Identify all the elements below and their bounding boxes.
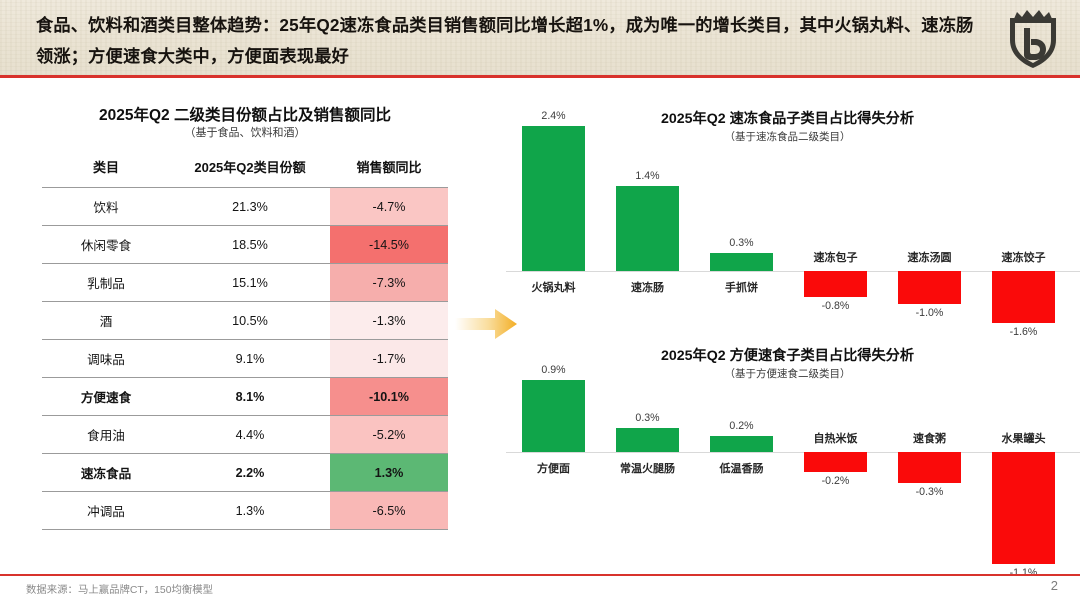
table-row: 调味品9.1%-1.7%: [42, 340, 448, 378]
cell-category: 方便速食: [42, 378, 170, 416]
cell-yoy: -4.7%: [330, 188, 448, 226]
cell-share: 15.1%: [170, 264, 330, 302]
table-row: 方便速食8.1%-10.1%: [42, 378, 448, 416]
chart-bar: [710, 436, 773, 452]
footer-divider: [0, 574, 1080, 576]
chart-bar: [804, 271, 867, 297]
slide-header: 食品、饮料和酒类目整体趋势：25年Q2速冻食品类目销售额同比增长超1%，成为唯一…: [0, 0, 1080, 78]
cell-share: 21.3%: [170, 188, 330, 226]
chart-category-label: 方便面: [508, 460, 600, 476]
cell-category: 食用油: [42, 416, 170, 454]
shield-crown-logo: [1004, 8, 1062, 70]
chart-bar: [522, 380, 585, 452]
page-title: 食品、饮料和酒类目整体趋势：25年Q2速冻食品类目销售额同比增长超1%，成为唯一…: [36, 10, 976, 72]
table-row: 酒10.5%-1.3%: [42, 302, 448, 340]
slide: 食品、饮料和酒类目整体趋势：25年Q2速冻食品类目销售额同比增长超1%，成为唯一…: [0, 0, 1080, 608]
page-number: 2: [1051, 578, 1058, 593]
chart-category-label: 自热米饭: [790, 430, 882, 446]
cell-yoy: -1.3%: [330, 302, 448, 340]
chart-bar: [898, 452, 961, 483]
chart-bar: [710, 253, 773, 271]
cell-yoy: -14.5%: [330, 226, 448, 264]
chart-bar: [616, 428, 679, 452]
cell-yoy: -1.7%: [330, 340, 448, 378]
cell-category: 调味品: [42, 340, 170, 378]
chart-plot-area: 2.4%火锅丸料1.4%速冻肠0.3%手抓饼-0.8%速冻包子-1.0%速冻汤圆…: [500, 108, 1075, 323]
chart-category-label: 水果罐头: [978, 430, 1070, 446]
chart-bar: [992, 452, 1055, 564]
chart-category-label: 手抓饼: [696, 279, 788, 295]
cell-yoy: 1.3%: [330, 454, 448, 492]
table-header-row: 类目 2025年Q2类目份额 销售额同比: [42, 152, 448, 188]
chart-bar: [522, 126, 585, 271]
chart-value-label: 2.4%: [514, 110, 594, 122]
chart-value-label: 0.9%: [514, 364, 594, 376]
cell-share: 4.4%: [170, 416, 330, 454]
column-header-category: 类目: [42, 152, 170, 188]
category-share-table: 类目 2025年Q2类目份额 销售额同比 饮料21.3%-4.7%休闲零食18.…: [42, 152, 448, 530]
cell-yoy: -6.5%: [330, 492, 448, 530]
chart-category-label: 火锅丸料: [508, 279, 600, 295]
footer-source: 数据来源：马上赢品牌CT，150均衡模型: [26, 581, 213, 596]
chart-value-label: -1.6%: [984, 326, 1064, 338]
cell-category: 乳制品: [42, 264, 170, 302]
chart-value-label: 0.3%: [702, 237, 782, 249]
column-header-yoy: 销售额同比: [330, 152, 448, 188]
cell-yoy: -7.3%: [330, 264, 448, 302]
cell-share: 8.1%: [170, 378, 330, 416]
chart-category-label: 速冻肠: [602, 279, 694, 295]
chart-value-label: -0.3%: [890, 486, 970, 498]
cell-share: 9.1%: [170, 340, 330, 378]
chart-value-label: 1.4%: [608, 170, 688, 182]
table-row: 冲调品1.3%-6.5%: [42, 492, 448, 530]
table-row: 速冻食品2.2%1.3%: [42, 454, 448, 492]
cell-category: 饮料: [42, 188, 170, 226]
chart-value-label: -0.2%: [796, 475, 876, 487]
chart-category-label: 低温香肠: [696, 460, 788, 476]
cell-yoy: -10.1%: [330, 378, 448, 416]
chart-category-label: 速食粥: [884, 430, 976, 446]
cell-category: 休闲零食: [42, 226, 170, 264]
table-row: 休闲零食18.5%-14.5%: [42, 226, 448, 264]
chart-category-label: 常温火腿肠: [602, 460, 694, 476]
table-row: 乳制品15.1%-7.3%: [42, 264, 448, 302]
cell-category: 冲调品: [42, 492, 170, 530]
chart-bar: [616, 186, 679, 271]
column-header-share: 2025年Q2类目份额: [170, 152, 330, 188]
chart-category-label: 速冻汤圆: [884, 249, 976, 265]
table-title: 2025年Q2 二级类目份额占比及销售额同比: [40, 103, 450, 125]
cell-category: 速冻食品: [42, 454, 170, 492]
cell-share: 18.5%: [170, 226, 330, 264]
cell-yoy: -5.2%: [330, 416, 448, 454]
chart-value-label: -0.8%: [796, 300, 876, 312]
table-row: 饮料21.3%-4.7%: [42, 188, 448, 226]
chart-plot-area: 0.9%方便面0.3%常温火腿肠0.2%低温香肠-0.2%自热米饭-0.3%速食…: [500, 345, 1075, 570]
chart-value-label: -1.0%: [890, 307, 970, 319]
chart-bar: [898, 271, 961, 304]
cell-share: 1.3%: [170, 492, 330, 530]
cell-share: 10.5%: [170, 302, 330, 340]
chart-category-label: 速冻饺子: [978, 249, 1070, 265]
table-subtitle: （基于食品、饮料和酒）: [40, 124, 450, 140]
table-row: 食用油4.4%-5.2%: [42, 416, 448, 454]
chart-convenience-food: 2025年Q2 方便速食子类目占比得失分析 （基于方便速食二级类目） 0.9%方…: [500, 345, 1075, 570]
chart-bar: [992, 271, 1055, 323]
cell-category: 酒: [42, 302, 170, 340]
cell-share: 2.2%: [170, 454, 330, 492]
chart-value-label: 0.2%: [702, 420, 782, 432]
chart-frozen-food: 2025年Q2 速冻食品子类目占比得失分析 （基于速冻食品二级类目） 2.4%火…: [500, 108, 1075, 323]
chart-bar: [804, 452, 867, 472]
chart-value-label: 0.3%: [608, 412, 688, 424]
chart-category-label: 速冻包子: [790, 249, 882, 265]
